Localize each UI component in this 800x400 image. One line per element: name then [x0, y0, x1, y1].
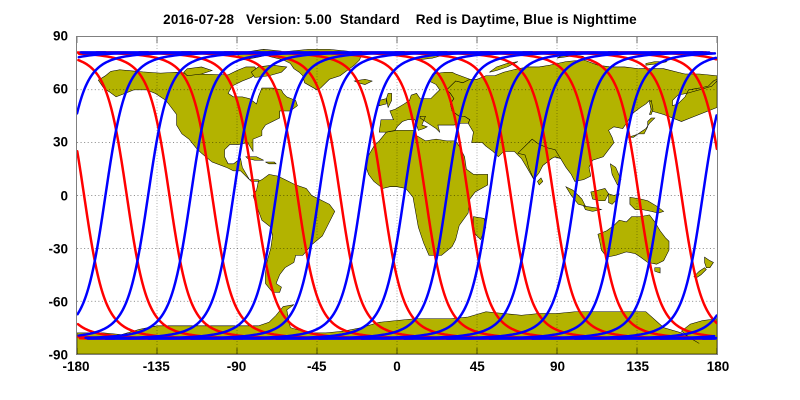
y-axis-label-60: 60 [6, 82, 68, 97]
chart-title: 2016-07-28 Version: 5.00 Standard Red is… [0, 12, 800, 27]
y-axis-label-0: 0 [6, 188, 68, 203]
land-uk [386, 93, 391, 107]
x-axis-label-45: 45 [470, 359, 485, 374]
land-sri-lanka [537, 178, 542, 185]
x-axis-label-0: 0 [393, 359, 401, 374]
land-africa [367, 130, 488, 255]
land-japan [628, 118, 655, 137]
y-axis-label--60: -60 [6, 294, 68, 309]
x-axis-label-90: 90 [550, 359, 565, 374]
land-tasmania [655, 268, 660, 273]
x-axis-label-180: 180 [707, 359, 730, 374]
nighttime-track-11-0 [87, 52, 404, 338]
y-axis-label-30: 30 [6, 135, 68, 150]
plot-area [76, 36, 718, 355]
x-axis-label--135: -135 [143, 359, 170, 374]
y-axis-label--30: -30 [6, 241, 68, 256]
land-south-america [253, 174, 335, 292]
ground-track-map: 2016-07-28 Version: 5.00 Standard Red is… [0, 0, 800, 400]
x-axis-label-135: 135 [626, 359, 649, 374]
x-axis-label--45: -45 [307, 359, 327, 374]
daytime-track-1-2 [84, 196, 242, 339]
y-axis-label-90: 90 [6, 29, 68, 44]
x-axis-label--180: -180 [62, 359, 89, 374]
y-axis-label--90: -90 [6, 348, 68, 363]
x-axis-label--90: -90 [227, 359, 247, 374]
land-borneo [591, 188, 609, 200]
daytime-track-0-0 [77, 151, 84, 195]
plot-frame [76, 36, 718, 355]
land-nz-north [705, 257, 714, 268]
world-map-svg [77, 37, 717, 354]
land-hispaniola [265, 162, 276, 164]
